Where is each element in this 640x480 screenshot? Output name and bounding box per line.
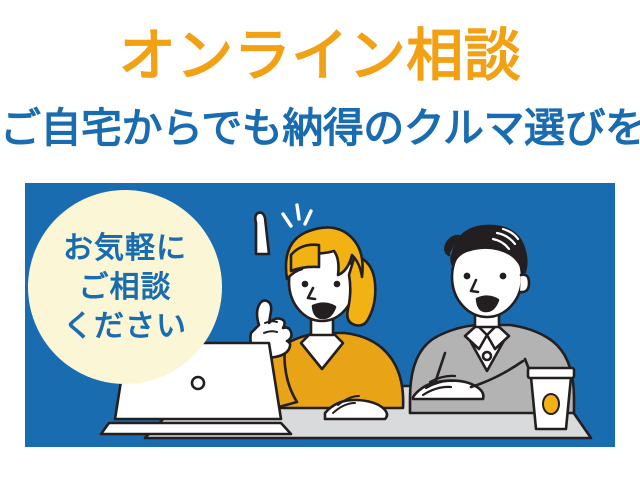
badge-line-1: お気軽に <box>63 229 187 268</box>
online-consultation-banner: オンライン相談 ご自宅からでも納得のクルマ選びを <box>0 0 640 480</box>
page-subtitle: ご自宅からでも納得のクルマ選びを <box>0 104 640 152</box>
headline-area: オンライン相談 ご自宅からでも納得のクルマ選びを <box>0 0 640 176</box>
page-title: オンライン相談 <box>0 26 640 86</box>
badge-line-2: ご相談 <box>79 268 172 307</box>
illustration-panel: お気軽に ご相談 ください <box>25 183 615 447</box>
coffee-cup-lid <box>528 368 574 378</box>
woman-eye-right <box>334 281 341 288</box>
woman-eye-left <box>302 281 309 288</box>
man-eye-left <box>464 273 471 280</box>
man-eye-right <box>500 273 507 280</box>
badge-line-3: ください <box>63 307 187 346</box>
laptop-logo <box>192 377 204 389</box>
laptop-base <box>101 423 291 434</box>
coffee-cup-logo <box>543 394 559 414</box>
man-ear <box>520 275 529 292</box>
consultation-badge: お気軽に ご相談 ください <box>28 190 222 384</box>
man-shirt-button <box>483 352 491 360</box>
